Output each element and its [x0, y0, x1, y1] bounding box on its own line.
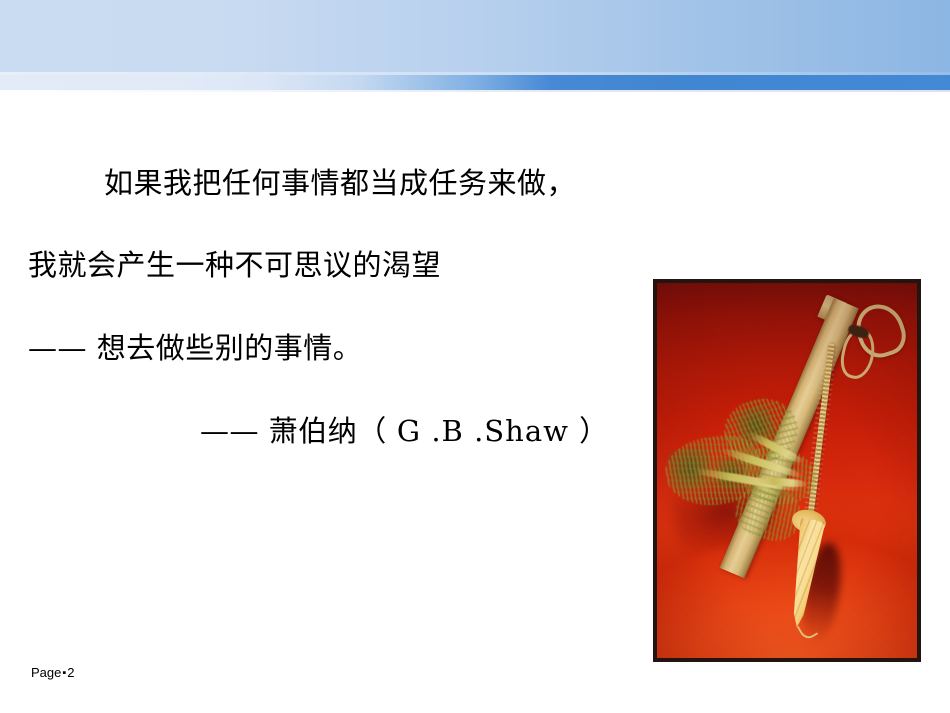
slide-canvas: 如果我把任何事情都当成任务来做， 我就会产生一种不可思议的渴望 —— 想去做些别… — [0, 0, 950, 713]
quote-line-1: 如果我把任何事情都当成任务来做， — [0, 168, 660, 198]
page-indicator: Page▪2 — [31, 664, 75, 682]
attribution-author: —— 萧伯纳（ — [200, 414, 387, 448]
photo-vignette — [657, 283, 917, 658]
header-decorative-band — [0, 0, 950, 75]
attribution-latin-name: G .B .Shaw — [387, 414, 579, 448]
header-drop-shadow — [0, 90, 950, 92]
quote-attribution: —— 萧伯纳（ G .B .Shaw ） — [0, 415, 660, 447]
carrot-on-a-stick-photo — [653, 279, 921, 662]
photo-inner — [657, 283, 917, 658]
quote-line-2: 我就会产生一种不可思议的渴望 — [0, 250, 660, 280]
quote-line-3: —— 想去做些别的事情。 — [0, 333, 660, 363]
quote-text-block: 如果我把任何事情都当成任务来做， 我就会产生一种不可思议的渴望 —— 想去做些别… — [0, 168, 660, 447]
page-label: Page — [31, 665, 61, 680]
page-number: 2 — [67, 665, 74, 680]
attribution-close-paren: ） — [579, 414, 609, 448]
header-accent-stripe — [0, 75, 950, 90]
